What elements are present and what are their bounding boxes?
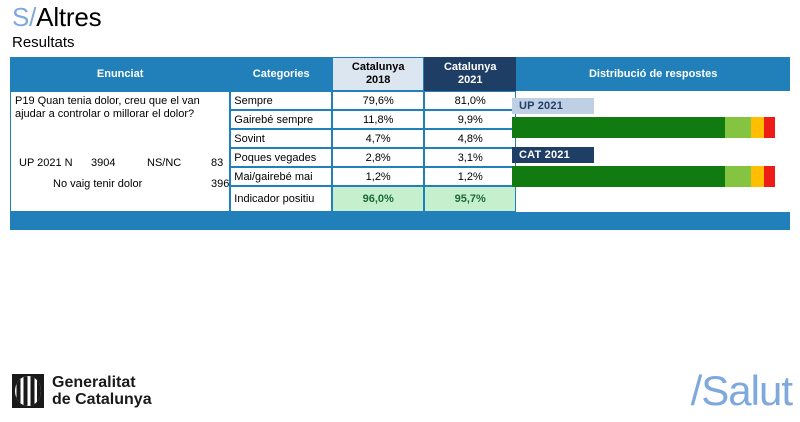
page-title: S/Altres (12, 2, 101, 32)
value-2018: 11,8% (332, 110, 424, 129)
distribution-panel: UP 2021 CAT 2021 (502, 90, 790, 208)
value-2018: 4,7% (332, 129, 424, 148)
stat-nsnc-label: NS/NC (147, 157, 181, 169)
column-header-distribucio: Distribució de respostes (516, 57, 790, 91)
value-2018: 2,8% (332, 148, 424, 167)
bar-segment-0 (512, 166, 725, 187)
generalitat-logo: Generalitat de Catalunya (12, 374, 152, 408)
column-header-catalunya-2018-line2: 2018 (335, 74, 421, 87)
salut-logo: /Salut (691, 368, 792, 414)
stat-sample-label: UP 2021 N (19, 157, 73, 169)
column-header-catalunya-2021-line2: 2021 (427, 74, 513, 87)
question-cell: P19 Quan tenia dolor, creu que el van aj… (10, 91, 230, 212)
bar-segment-3 (764, 117, 775, 138)
value-2018: 1,2% (332, 167, 424, 186)
category-label: Sempre (230, 91, 332, 110)
table-header-row: Enunciat Categories Catalunya 2018 Catal… (10, 57, 790, 91)
stat-nopain-value: 396 (211, 178, 229, 190)
question-text: P19 Quan tenia dolor, creu que el van aj… (15, 95, 225, 121)
bar-segment-2 (751, 117, 764, 138)
badge-up-2021: UP 2021 (512, 98, 594, 114)
column-header-enunciat: Enunciat (10, 57, 230, 91)
page-title-prefix: S/ (12, 2, 36, 32)
category-label: Mai/gairebé mai (230, 167, 332, 186)
generalitat-logo-text: Generalitat de Catalunya (52, 374, 152, 408)
up-2021-bar (512, 117, 775, 138)
category-label: Poques vegades (230, 148, 332, 167)
generalitat-logo-line1: Generalitat (52, 374, 152, 391)
category-label: Sovint (230, 129, 332, 148)
title-block: S/Altres Resultats (12, 2, 101, 52)
column-header-categories: Categories (230, 57, 332, 91)
table-footer-band (10, 212, 790, 230)
bar-segment-1 (725, 166, 751, 187)
category-label: Gairebé sempre (230, 110, 332, 129)
bar-segment-1 (725, 117, 751, 138)
column-header-catalunya-2018-line1: Catalunya (335, 61, 421, 74)
column-header-catalunya-2018: Catalunya 2018 (332, 57, 424, 91)
table-header: Enunciat Categories Catalunya 2018 Catal… (10, 57, 790, 91)
indicator-value-2018: 96,0% (332, 186, 424, 212)
stat-nopain-label: No vaig tenir dolor (53, 178, 142, 190)
column-header-catalunya-2021: Catalunya 2021 (424, 57, 516, 91)
column-header-catalunya-2021-line1: Catalunya (427, 61, 513, 74)
value-2018: 79,6% (332, 91, 424, 110)
cat-2021-bar (512, 166, 775, 187)
page-subtitle: Resultats (12, 34, 101, 52)
generalitat-logo-line2: de Catalunya (52, 391, 152, 408)
stat-nsnc-value: 83 (211, 157, 223, 169)
question-stats: UP 2021 N 3904 NS/NC 83 No vaig tenir do… (15, 157, 225, 199)
stat-sample-value: 3904 (91, 157, 115, 169)
bar-segment-3 (764, 166, 775, 187)
generalitat-emblem-icon (12, 374, 44, 408)
bar-segment-0 (512, 117, 725, 138)
indicator-label: Indicador positiu (230, 186, 332, 212)
page-title-main: Altres (36, 2, 101, 32)
bar-segment-2 (751, 166, 764, 187)
badge-cat-2021: CAT 2021 (512, 147, 594, 163)
